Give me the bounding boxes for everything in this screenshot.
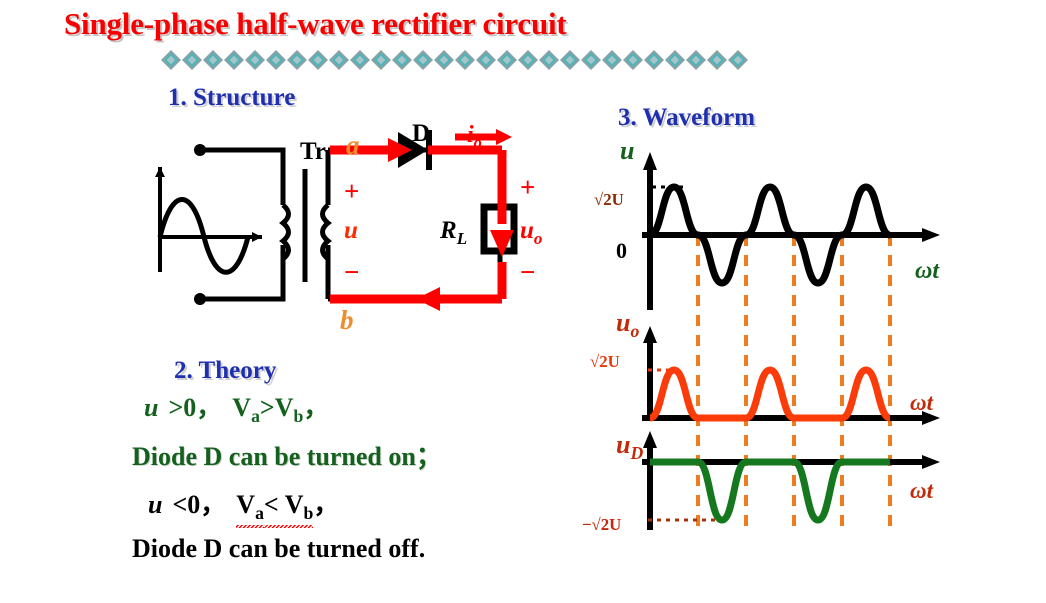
chart-output-voltage bbox=[642, 326, 940, 425]
diamond-icon bbox=[412, 49, 434, 71]
source-label-u: u bbox=[344, 217, 358, 245]
diamond-icon bbox=[307, 49, 329, 71]
ac-source-icon bbox=[160, 167, 262, 272]
axis-label-omega-t-3: ωt bbox=[910, 478, 933, 504]
axis-label-u: u bbox=[620, 136, 634, 166]
heading-waveform: 3. Waveform bbox=[618, 104, 755, 132]
waveform-charts: u uo uD ωt ωt ωt √2U 0 √2U −√2U bbox=[580, 130, 1046, 560]
theory-line-3: u<0，Va< Vb， bbox=[148, 484, 339, 524]
axis-label-omega-t-1: ωt bbox=[915, 258, 939, 285]
axis-label-ud: uD bbox=[616, 430, 643, 464]
diamond-icon bbox=[181, 49, 203, 71]
page-title: Single-phase half-wave rectifier circuit bbox=[64, 6, 567, 42]
slide-canvas: Single-phase half-wave rectifier circuit… bbox=[0, 0, 1046, 603]
waveform-svg bbox=[580, 130, 1046, 560]
chart-diode-voltage bbox=[642, 431, 940, 530]
diamond-icon bbox=[370, 49, 392, 71]
diamond-icon bbox=[538, 49, 560, 71]
node-label-b: b bbox=[340, 305, 354, 336]
ac-source-arrow-x bbox=[252, 232, 262, 242]
heading-theory: 2. Theory bbox=[174, 357, 276, 385]
ac-source-arrow-y bbox=[155, 167, 165, 177]
diamond-icon bbox=[559, 49, 581, 71]
diamond-icon bbox=[664, 49, 686, 71]
theory-line-4: Diode D can be turned off. bbox=[132, 534, 425, 564]
primary-wires bbox=[200, 150, 283, 299]
polarity-minus-left: − bbox=[344, 259, 359, 286]
peak-value-label-uo: √2U bbox=[590, 352, 620, 372]
io-current-arrow bbox=[455, 129, 512, 145]
diamond-icon bbox=[244, 49, 266, 71]
theory-line-1: u>0，Va>Vb， bbox=[144, 387, 329, 427]
axis-label-omega-t-2: ωt bbox=[910, 390, 933, 416]
diamond-icon bbox=[223, 49, 245, 71]
polarity-plus-left: + bbox=[344, 178, 359, 205]
diamond-icon bbox=[286, 49, 308, 71]
output-label-uo: uo bbox=[520, 217, 542, 249]
diamond-icon bbox=[580, 49, 602, 71]
diamond-icon bbox=[454, 49, 476, 71]
chart-source-voltage bbox=[642, 152, 940, 310]
diode-label: D bbox=[412, 120, 430, 148]
diamond-icon bbox=[328, 49, 350, 71]
node-label-a: a bbox=[346, 130, 360, 161]
diamond-icon bbox=[202, 49, 224, 71]
transformer-label: Tr bbox=[300, 138, 326, 166]
load-label-rl: RL bbox=[440, 217, 467, 249]
output-voltage-curve bbox=[650, 370, 890, 418]
diamond-icon bbox=[727, 49, 749, 71]
terminal-dot-bottom bbox=[194, 293, 206, 305]
diamond-icon bbox=[622, 49, 644, 71]
spellcheck-underline-vb: < Vb bbox=[264, 490, 313, 524]
polarity-plus-right: + bbox=[520, 174, 535, 201]
terminal-dot-top bbox=[194, 144, 206, 156]
peak-value-label-ud: −√2U bbox=[582, 515, 621, 535]
axis-label-uo: uo bbox=[616, 308, 639, 342]
zero-value-label: 0 bbox=[616, 238, 627, 264]
circuit-svg bbox=[140, 112, 580, 352]
diamond-icon bbox=[517, 49, 539, 71]
diode-voltage-curve bbox=[650, 462, 890, 520]
diamond-divider-icon bbox=[160, 48, 792, 72]
diamond-icon bbox=[433, 49, 455, 71]
diamond-icon bbox=[706, 49, 728, 71]
diamond-icon bbox=[349, 49, 371, 71]
diamond-icon bbox=[601, 49, 623, 71]
heading-structure: 1. Structure bbox=[168, 84, 295, 112]
diamond-icon bbox=[685, 49, 707, 71]
diamond-icon bbox=[160, 49, 182, 71]
circuit-diagram: Tr a b D io RL uo u + − + − bbox=[140, 112, 580, 352]
theory-line-2: Diode D can be turned on； bbox=[132, 436, 442, 473]
diamond-icon bbox=[391, 49, 413, 71]
diamond-icon bbox=[643, 49, 665, 71]
diamond-icon bbox=[475, 49, 497, 71]
spellcheck-underline-va: Va bbox=[236, 490, 264, 524]
diamond-icon bbox=[265, 49, 287, 71]
polarity-minus-right: − bbox=[520, 259, 535, 286]
current-arrow-return bbox=[416, 287, 440, 311]
peak-value-label-u: √2U bbox=[594, 190, 624, 210]
diamond-icon bbox=[496, 49, 518, 71]
current-label-io: io bbox=[467, 122, 482, 153]
